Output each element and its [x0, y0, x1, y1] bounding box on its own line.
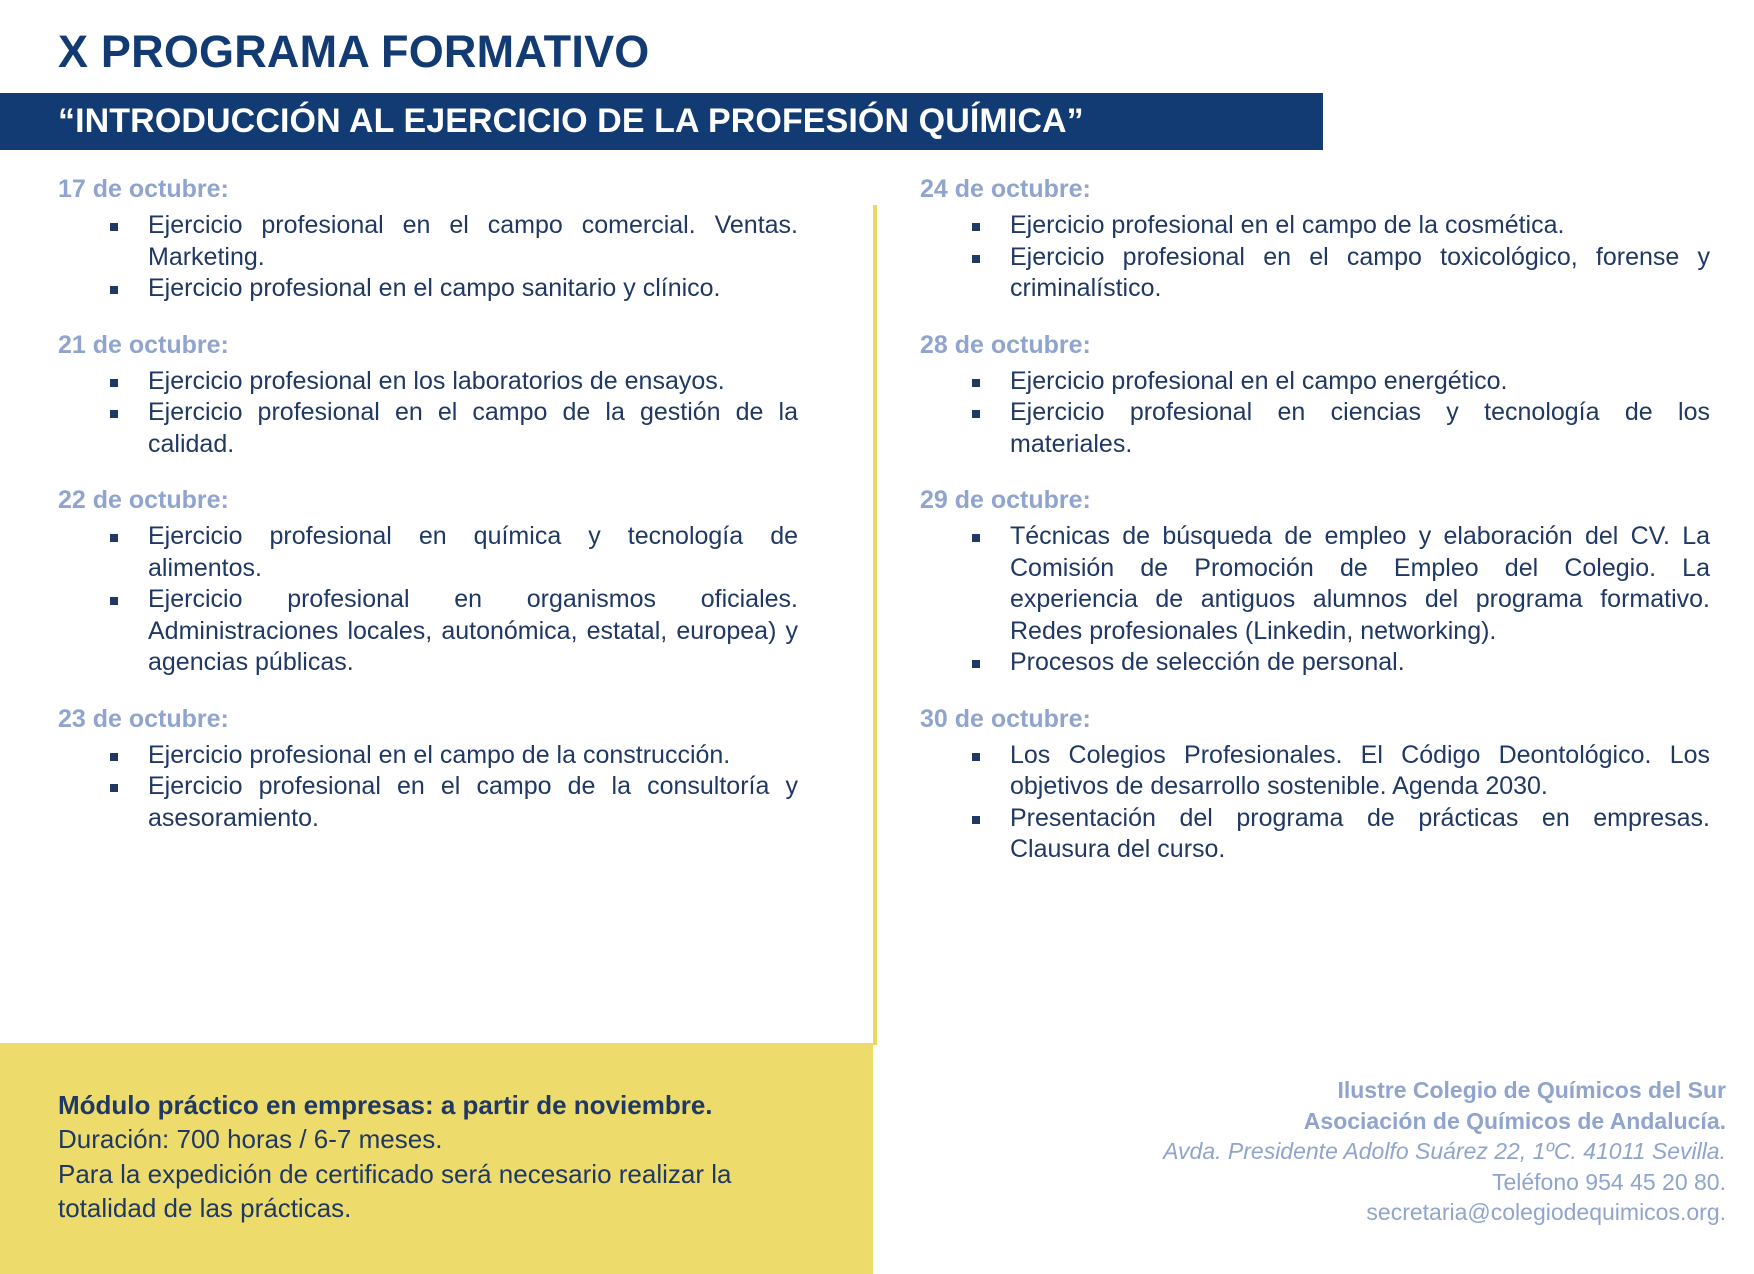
contact-phone: Teléfono 954 45 20 80.: [966, 1167, 1726, 1198]
bullet-list: Ejercicio profesional en los laboratorio…: [102, 366, 798, 461]
list-item: Ejercicio profesional en el campo de la …: [102, 397, 798, 460]
schedule-column-left: 17 de octubre: Ejercicio profesional en …: [58, 175, 798, 834]
page-title: X PROGRAMA FORMATIVO: [58, 26, 649, 78]
list-item: Ejercicio profesional en el campo energé…: [964, 366, 1710, 398]
practical-module-duration: Duración: 700 horas / 6-7 meses.: [58, 1122, 798, 1156]
bullet-list: Ejercicio profesional en el campo de la …: [102, 740, 798, 835]
title-banner: “INTRODUCCIÓN AL EJERCICIO DE LA PROFESI…: [0, 93, 1323, 150]
bullet-list: Técnicas de búsqueda de empleo y elabora…: [964, 521, 1710, 679]
poster-page: X PROGRAMA FORMATIVO “INTRODUCCIÓN AL EJ…: [0, 0, 1754, 1274]
date-heading: 17 de octubre:: [58, 175, 798, 204]
bullet-list: Ejercicio profesional en química y tecno…: [102, 521, 798, 679]
list-item: Ejercicio profesional en el campo de la …: [102, 740, 798, 772]
date-heading: 21 de octubre:: [58, 331, 798, 360]
schedule-column-right: 24 de octubre: Ejercicio profesional en …: [920, 175, 1710, 866]
vertical-divider: [873, 205, 877, 1045]
bullet-list: Ejercicio profesional en el campo de la …: [964, 210, 1710, 305]
contact-email: secretaria@colegiodequimicos.org.: [966, 1197, 1726, 1228]
bullet-list: Ejercicio profesional en el campo comerc…: [102, 210, 798, 305]
list-item: Ejercicio profesional en organismos ofic…: [102, 584, 798, 679]
list-item: Ejercicio profesional en ciencias y tecn…: [964, 397, 1710, 460]
date-heading: 24 de octubre:: [920, 175, 1710, 204]
contact-address: Avda. Presidente Adolfo Suárez 22, 1ºC. …: [966, 1136, 1726, 1167]
bullet-list: Los Colegios Profesionales. El Código De…: [964, 740, 1710, 866]
list-item: Técnicas de búsqueda de empleo y elabora…: [964, 521, 1710, 647]
list-item: Ejercicio profesional en el campo sanita…: [102, 273, 798, 305]
organization-name-line2: Asociación de Químicos de Andalucía.: [966, 1106, 1726, 1137]
list-item: Ejercicio profesional en el campo de la …: [964, 210, 1710, 242]
practical-module-heading: Módulo práctico en empresas: a partir de…: [58, 1088, 873, 1122]
list-item: Ejercicio profesional en el campo de la …: [102, 771, 798, 834]
practical-module-note: Para la expedición de certificado será n…: [58, 1157, 798, 1226]
date-heading: 29 de octubre:: [920, 486, 1710, 515]
list-item: Ejercicio profesional en el campo toxico…: [964, 242, 1710, 305]
list-item: Ejercicio profesional en los laboratorio…: [102, 366, 798, 398]
list-item: Ejercicio profesional en química y tecno…: [102, 521, 798, 584]
date-heading: 28 de octubre:: [920, 331, 1710, 360]
date-heading: 30 de octubre:: [920, 705, 1710, 734]
bullet-list: Ejercicio profesional en el campo energé…: [964, 366, 1710, 461]
list-item: Presentación del programa de prácticas e…: [964, 803, 1710, 866]
date-heading: 22 de octubre:: [58, 486, 798, 515]
list-item: Los Colegios Profesionales. El Código De…: [964, 740, 1710, 803]
list-item: Procesos de selección de personal.: [964, 647, 1710, 679]
footer-contact-block: Ilustre Colegio de Químicos del Sur Asoc…: [966, 1075, 1726, 1228]
footer-left-panel: Módulo práctico en empresas: a partir de…: [0, 1043, 873, 1274]
organization-name-line1: Ilustre Colegio de Químicos del Sur: [966, 1075, 1726, 1106]
schedule-columns: 17 de octubre: Ejercicio profesional en …: [0, 175, 1754, 1040]
list-item: Ejercicio profesional en el campo comerc…: [102, 210, 798, 273]
title-banner-text: “INTRODUCCIÓN AL EJERCICIO DE LA PROFESI…: [0, 102, 1084, 141]
date-heading: 23 de octubre:: [58, 705, 798, 734]
